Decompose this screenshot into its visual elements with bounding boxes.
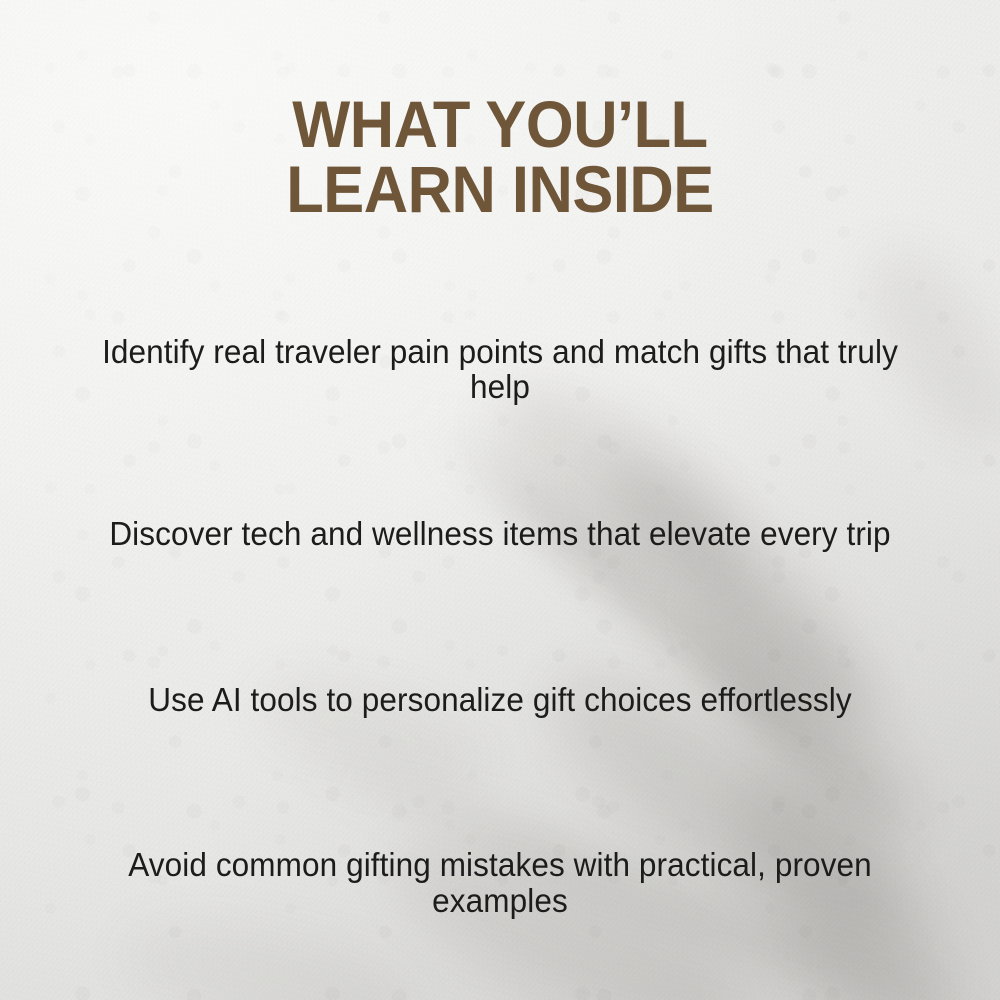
- learning-point-item: Identify real traveler pain points and m…: [70, 334, 930, 405]
- slide-canvas: WHAT YOU’LL LEARN INSIDE Identify real t…: [0, 0, 1000, 1000]
- learning-point-item: Use AI tools to personalize gift choices…: [70, 682, 930, 718]
- page-title: WHAT YOU’LL LEARN INSIDE: [147, 92, 854, 221]
- learning-point-item: Avoid common gifting mistakes with pract…: [70, 847, 930, 918]
- slide-content: WHAT YOU’LL LEARN INSIDE Identify real t…: [0, 0, 1000, 1000]
- learning-points-list: Identify real traveler pain points and m…: [50, 326, 950, 1000]
- learning-point-item: Discover tech and wellness items that el…: [70, 516, 930, 552]
